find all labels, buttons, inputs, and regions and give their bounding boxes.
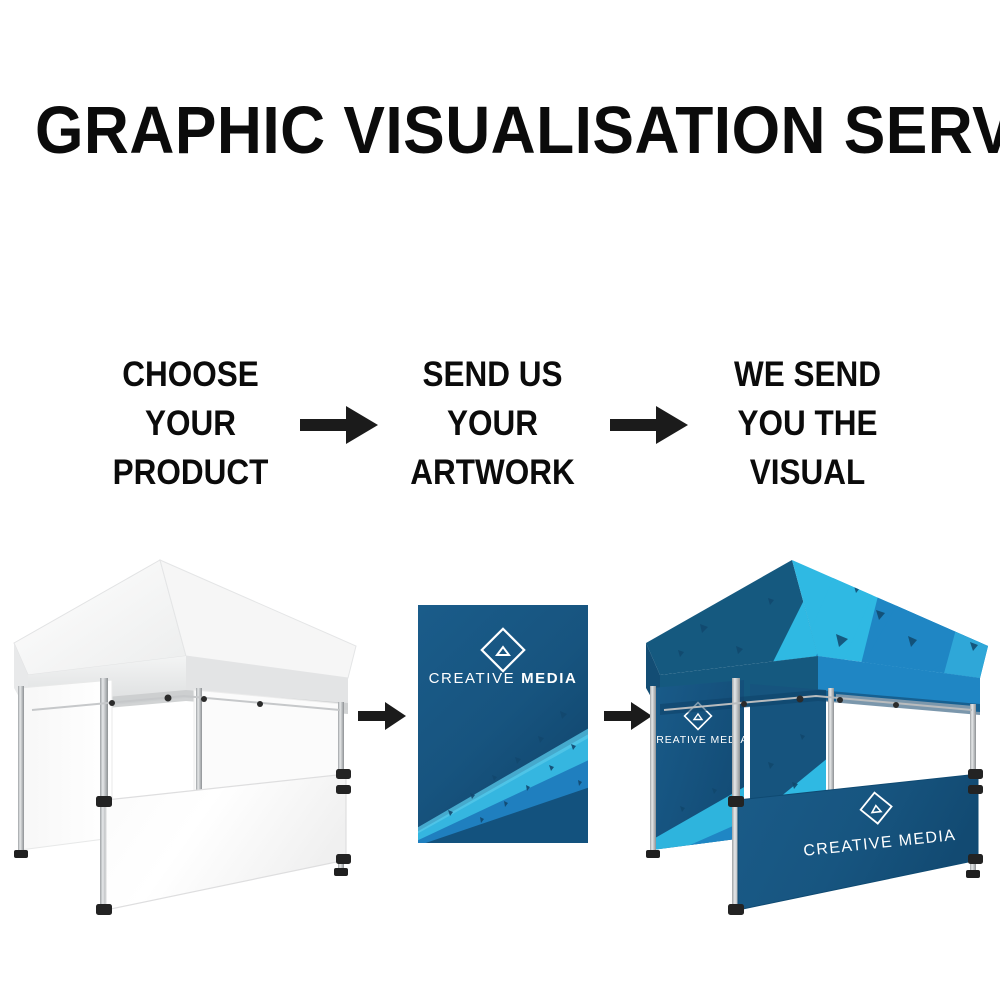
page-title: GRAPHIC VISUALISATION SERVICE <box>35 96 965 166</box>
step-arrow-1-icon <box>300 402 378 448</box>
step-send-artwork: SEND US YOUR ARTWORK <box>378 350 608 497</box>
step-receive-visual-line1: WE SEND <box>693 350 923 399</box>
step-arrow-2-icon <box>610 402 688 448</box>
step-choose-product-line2: YOUR <box>76 399 306 448</box>
blank-gazebo-tent <box>8 538 368 938</box>
step-receive-visual: WE SEND YOU THE VISUAL <box>693 350 923 497</box>
step-receive-visual-line2: YOU THE <box>693 399 923 448</box>
process-steps: CHOOSE YOUR PRODUCT SEND US YOUR ARTWORK… <box>0 340 1000 500</box>
printed-gazebo-tent: CREATIVE MEDIA <box>640 538 1000 938</box>
product-flow: CREATIVE MEDIA <box>0 520 1000 940</box>
step-send-artwork-line2: YOUR <box>378 399 608 448</box>
step-choose-product-line1: CHOOSE <box>76 350 306 399</box>
creative-media-artwork: CREATIVE MEDIA <box>418 605 588 843</box>
step-send-artwork-line3: ARTWORK <box>378 448 608 497</box>
step-choose-product-line3: PRODUCT <box>76 448 306 497</box>
step-receive-visual-line3: VISUAL <box>693 448 923 497</box>
step-choose-product: CHOOSE YOUR PRODUCT <box>76 350 306 497</box>
flow-arrow-1-icon <box>358 700 406 732</box>
step-send-artwork-line1: SEND US <box>378 350 608 399</box>
svg-text:CREATIVE MEDIA: CREATIVE MEDIA <box>429 670 578 687</box>
